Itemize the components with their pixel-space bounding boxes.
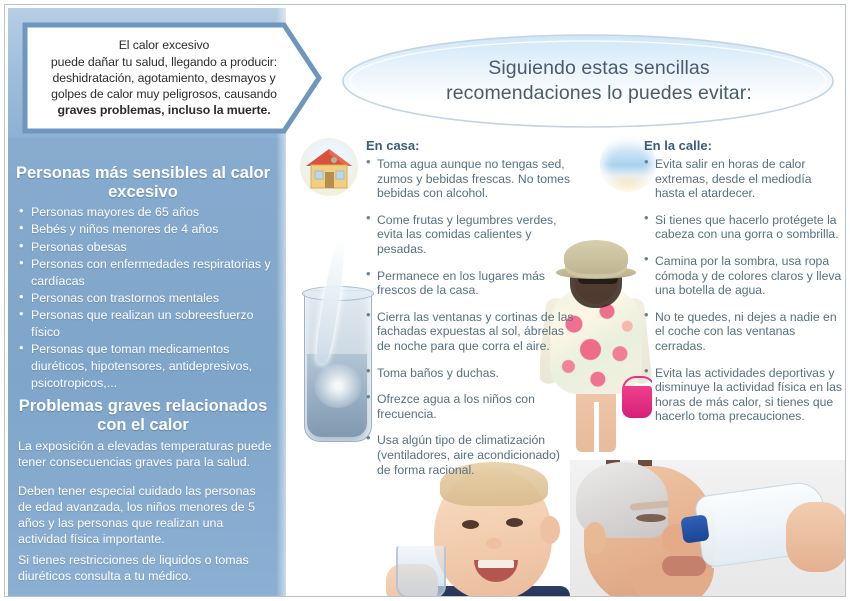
list-item: Toma agua aunque no tengas sed, zumos y …: [366, 157, 576, 201]
baby-left-eye: [462, 520, 479, 529]
sidebar-list-sensitive-people: Personas mayores de 65 años Bebés y niño…: [18, 204, 274, 392]
callout-line-2: puede dañar tu salud, llegando a produci…: [51, 54, 277, 70]
list-item: Personas con enfermedades respiratorias …: [18, 256, 274, 290]
elderly-eye: [636, 514, 666, 522]
sidebar-heading-serious-problems: Problemas graves relacionados con el cal…: [14, 397, 272, 435]
list-item: Cierra las ventanas y cortinas de las fa…: [366, 310, 576, 354]
helper-hand: [786, 502, 848, 572]
heat-safety-infographic: El calor excesivo puede dañar tu salud, …: [0, 0, 850, 601]
callout-line-5: graves problemas, incluso la muerte.: [57, 102, 270, 118]
warning-callout: El calor excesivo puede dañar tu salud, …: [22, 22, 322, 134]
bottle-blue-cap: [680, 514, 709, 543]
column-list-street: Evita salir en horas de calor extremas, …: [644, 157, 844, 436]
recommendations-banner: Siguiendo estas sencillas recomendacione…: [340, 32, 836, 130]
column-heading-home: En casa:: [366, 138, 419, 153]
list-item: Personas que toman medicamentos diurétic…: [18, 341, 274, 391]
banner-text-block: Siguiendo estas sencillas recomendacione…: [340, 32, 836, 130]
list-item: Ofrezce agua a los niños con frecuencia.: [366, 392, 576, 421]
list-item: Personas mayores de 65 años: [18, 204, 274, 221]
baby-water-glass: [396, 546, 446, 598]
baby-ear: [540, 516, 560, 544]
house-icon: [298, 136, 360, 198]
list-item: Personas obesas: [18, 239, 274, 256]
banner-line-2: recomendaciones lo puedes evitar:: [446, 81, 752, 106]
baby-right-eye: [506, 518, 523, 527]
list-item: Permanece en los lugares más frescos de …: [366, 269, 576, 298]
callout-line-3: deshidratación, agotamiento, desmayos y: [52, 70, 275, 86]
list-item: Personas que realizan un sobreesfuerzo f…: [18, 307, 274, 341]
column-list-home: Toma agua aunque no tengas sed, zumos y …: [366, 157, 576, 489]
main-content-area: Siguiendo estas sencillas recomendacione…: [292, 8, 850, 601]
list-item: No te quedes, ni dejes a nadie en el coc…: [644, 310, 844, 354]
baby-nose: [486, 538, 502, 549]
list-item: Evita salir en horas de calor extremas, …: [644, 157, 844, 201]
list-item: Toma baños y duchas.: [366, 366, 576, 381]
callout-line-4: golpes de calor muy peligrosos, causando: [51, 86, 277, 102]
sidebar-heading-sensitive-people: Personas más sensibles al calor excesivo: [14, 164, 272, 202]
elderly-mouth: [662, 556, 706, 576]
elderly-ear: [584, 522, 606, 554]
sidebar-paragraph-3: Si tienes restricciones de liquidos o to…: [18, 552, 272, 584]
elderly-man-drinking-photo: [570, 460, 848, 601]
sidebar-paragraph-1: La exposición a elevadas temperaturas pu…: [18, 438, 272, 470]
list-item: Personas con trastornos mentales: [18, 290, 274, 307]
list-item: Come frutas y legumbres verdes, evita la…: [366, 213, 576, 257]
banner-line-1: Siguiendo estas sencillas: [488, 56, 709, 81]
list-item: Evita las actividades deportivas y dismi…: [644, 366, 844, 424]
list-item: Camina por la sombra, usa ropa cómoda y …: [644, 254, 844, 298]
callout-line-1: El calor excesivo: [119, 37, 210, 53]
baby-teeth: [478, 560, 514, 568]
callout-text-block: El calor excesivo puede dañar tu salud, …: [34, 34, 294, 122]
glass-splash: [314, 364, 362, 408]
sidebar-paragraph-2: Deben tener especial cuidado las persona…: [18, 483, 272, 547]
list-item: Usa algún tipo de climatización (ventila…: [366, 433, 576, 477]
girl-leg-gap: [594, 402, 599, 452]
list-item: Si tienes que hacerlo protégete la cabez…: [644, 213, 844, 242]
column-heading-street: En la calle:: [644, 138, 712, 153]
list-item: Bebés y niños menores de 4 años: [18, 221, 274, 238]
